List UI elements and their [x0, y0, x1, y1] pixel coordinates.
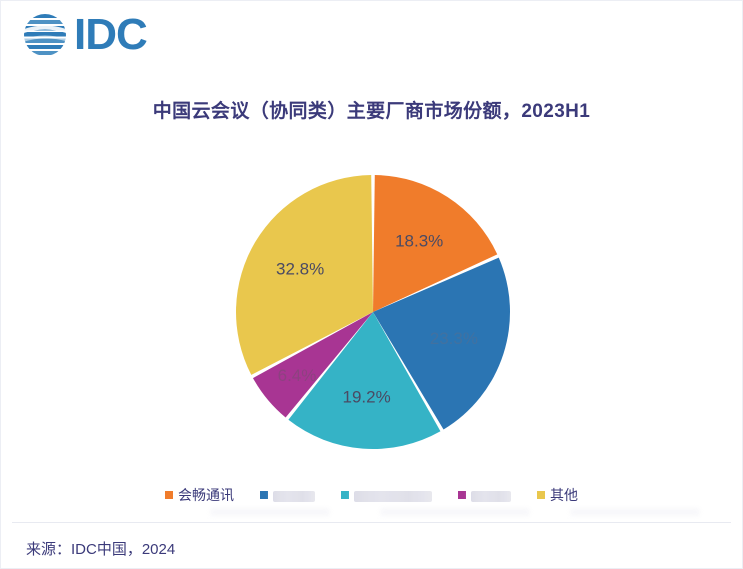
legend-swatch-icon [260, 491, 268, 499]
legend-label: 其他 [550, 487, 578, 503]
legend-item-1[interactable] [260, 490, 315, 501]
idc-logo: IDC [22, 12, 147, 58]
legend-label-redacted [354, 491, 432, 502]
legend-item-2[interactable] [341, 490, 432, 501]
legend-label: 会畅通讯 [178, 487, 234, 503]
legend-label-redacted [471, 491, 511, 502]
footer-divider [12, 522, 731, 523]
pie-slice-label: 18.3% [395, 232, 443, 251]
artifact-smudge [380, 508, 530, 516]
pie-slice-label: 23.3% [430, 329, 478, 348]
chart-legend: 会畅通讯 其他 [0, 487, 743, 503]
slide-canvas: IDC 中国云会议（协同类）主要厂商市场份额，2023H1 18.3%23.3%… [0, 0, 743, 569]
legend-swatch-icon [341, 491, 349, 499]
pie-slice-label: 19.2% [343, 388, 391, 407]
chart-title: 中国云会议（协同类）主要厂商市场份额，2023H1 [0, 96, 743, 123]
legend-item-4[interactable]: 其他 [537, 487, 578, 503]
legend-item-0[interactable]: 会畅通讯 [165, 487, 234, 503]
artifact-smudge [570, 508, 700, 516]
legend-item-3[interactable] [458, 490, 511, 501]
legend-swatch-icon [458, 491, 466, 499]
legend-swatch-icon [165, 491, 173, 499]
legend-swatch-icon [537, 491, 545, 499]
pie-chart: 18.3%23.3%19.2%6.4%32.8% [235, 172, 515, 454]
pie-slice-label: 6.4% [278, 366, 317, 385]
pie-slice-label: 32.8% [276, 259, 324, 278]
globe-icon [22, 12, 68, 58]
logo-wordmark: IDC [74, 12, 147, 58]
pie-chart-svg: 18.3%23.3%19.2%6.4%32.8% [235, 172, 515, 454]
source-note: 来源：IDC中国，2024 [26, 538, 175, 559]
artifact-smudge [210, 508, 330, 516]
legend-label-redacted [273, 491, 315, 502]
